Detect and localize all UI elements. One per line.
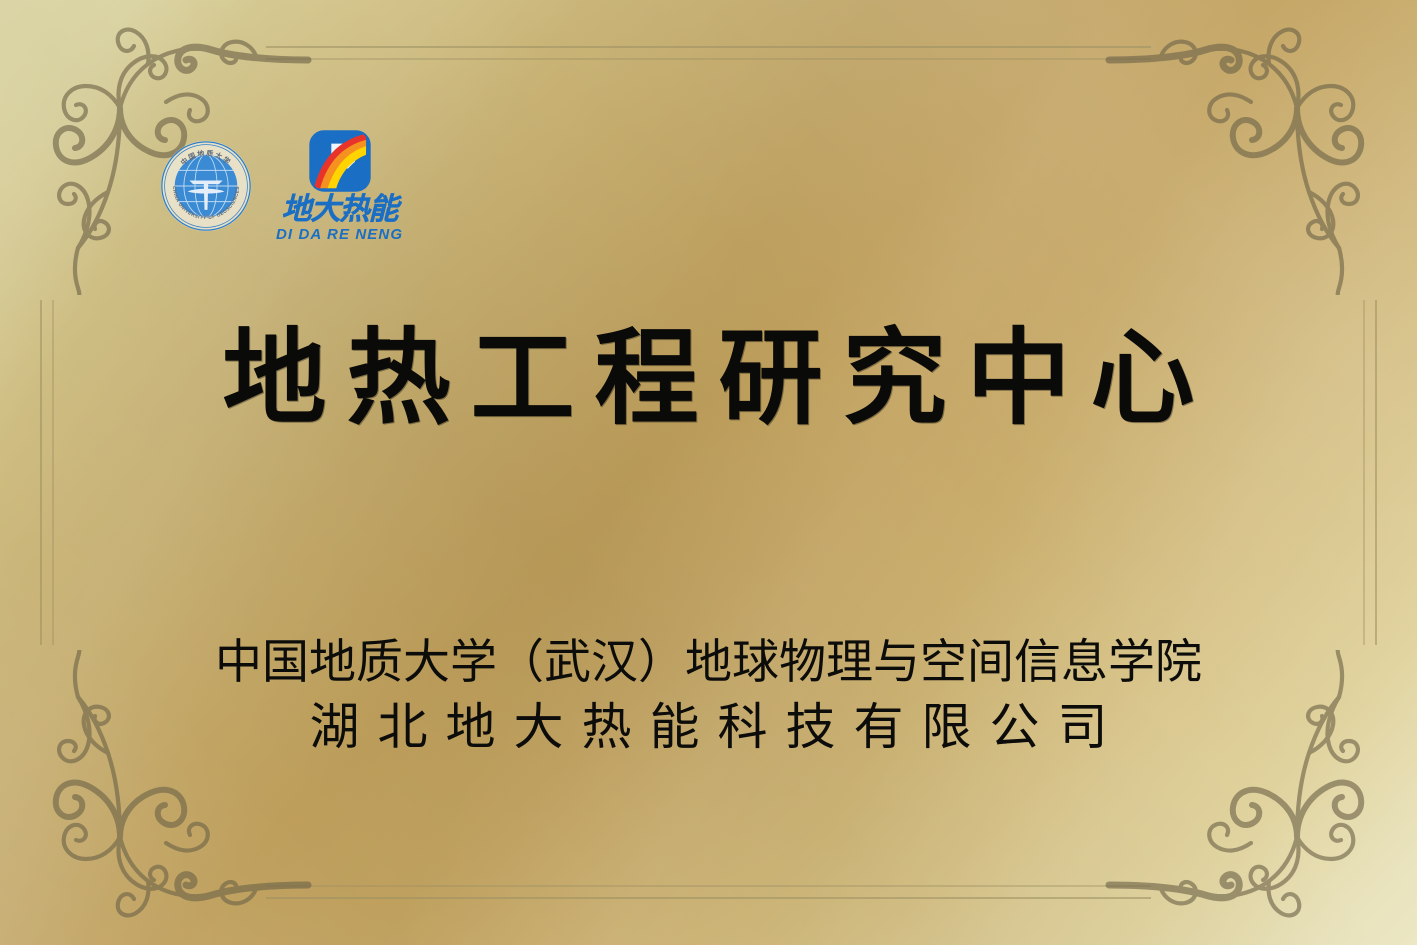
corner-flourish-top-right	[1101, 10, 1401, 295]
subtitle-block: 中国地质大学（武汉）地球物理与空间信息学院 湖北地大热能科技有限公司	[0, 636, 1417, 759]
svg-text:1952: 1952	[202, 214, 212, 219]
frame-line-top-outer	[266, 46, 1151, 48]
frame-line-top-inner	[266, 58, 1151, 60]
frame-line-bottom-outer	[266, 897, 1151, 899]
plaque: 中国地质大学 CHINA UNIVERSITY OF GEOSCIENCES 1…	[0, 0, 1417, 945]
affiliation-line-university: 中国地质大学（武汉）地球物理与空间信息学院	[0, 636, 1417, 690]
didareneng-chinese-name: 地大热能	[282, 195, 398, 225]
page-title: 地热工程研究中心	[0, 322, 1417, 434]
china-university-of-geosciences-seal-icon: 中国地质大学 CHINA UNIVERSITY OF GEOSCIENCES 1…	[160, 140, 252, 232]
didareneng-mark-icon	[309, 130, 371, 192]
didareneng-logo: 地大热能 DI DA RE NENG	[276, 130, 403, 242]
frame-line-bottom-inner	[266, 885, 1151, 887]
affiliation-line-company: 湖北地大热能科技有限公司	[0, 696, 1417, 759]
didareneng-pinyin-name: DI DA RE NENG	[276, 227, 403, 242]
logo-row: 中国地质大学 CHINA UNIVERSITY OF GEOSCIENCES 1…	[160, 130, 403, 242]
